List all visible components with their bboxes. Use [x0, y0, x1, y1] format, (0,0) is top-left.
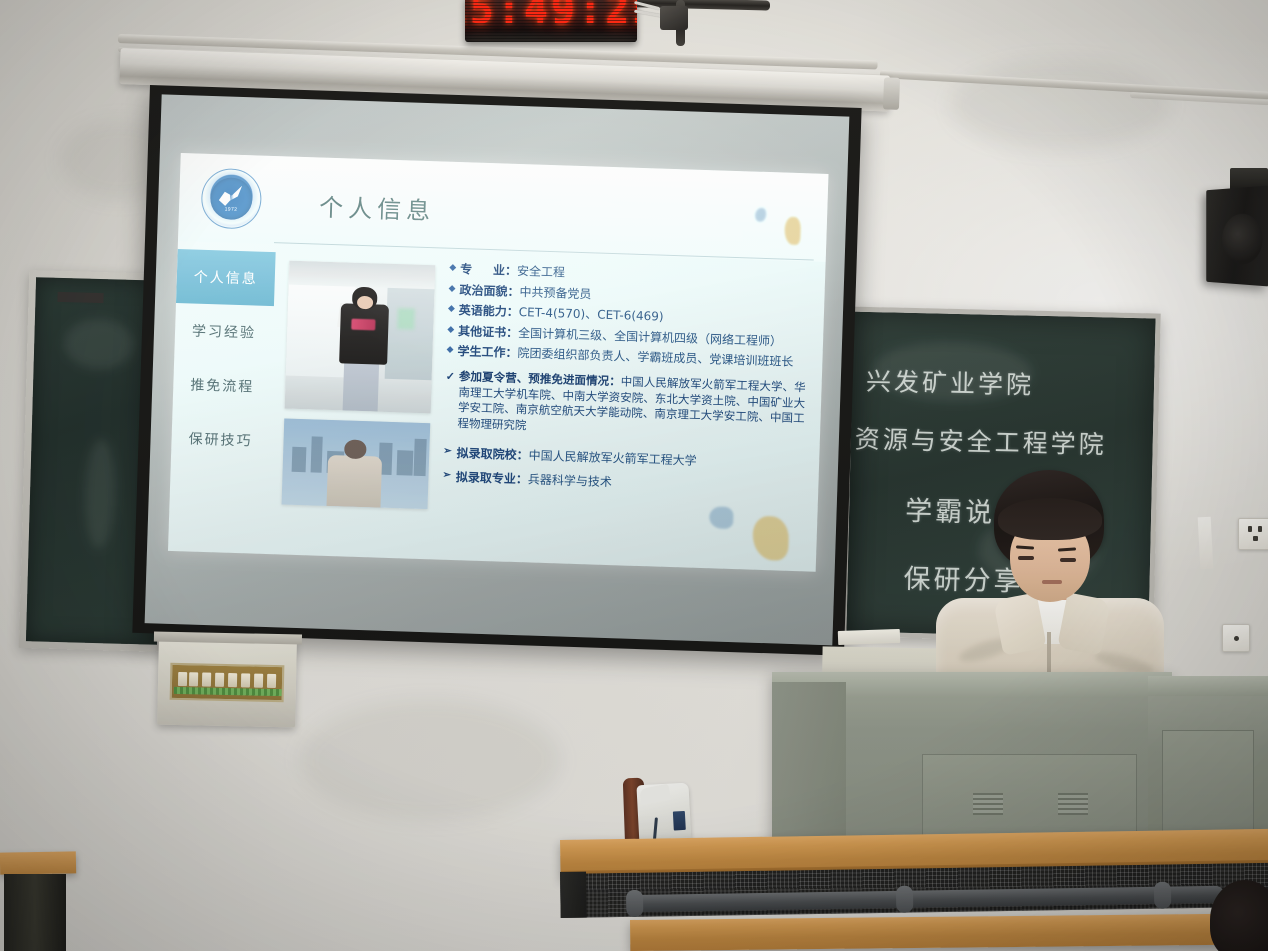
- podium-vent: [973, 793, 1003, 815]
- slide-photo-subway: [285, 261, 436, 414]
- papers-on-console: [838, 629, 900, 645]
- slide-nav-item-personal-info[interactable]: 个人信息: [176, 249, 276, 306]
- diamond-bullet-icon: ◆: [448, 301, 455, 317]
- bullet-label: 其他证书: [458, 322, 507, 341]
- wall-stain: [950, 60, 1170, 150]
- slide-header: [178, 153, 829, 262]
- slide-content-body: ◆ 专 业 ： 安全工程 ◆ 政治面貌 ： 中共预备党员 ◆ 英语能力: [442, 260, 809, 497]
- projector-screen: 1972 个人信息 个人信息 学习经验 推免流程 保研: [132, 85, 861, 656]
- slide-nav-label: 个人信息: [194, 267, 259, 289]
- wall-stain: [300, 700, 560, 820]
- decor-gold-splotch: [784, 217, 801, 246]
- bullet-separator: ：: [506, 323, 519, 340]
- check-bullet-icon: ✓: [445, 370, 455, 385]
- wall-speaker: [1206, 186, 1268, 287]
- panel-window: [170, 663, 285, 702]
- wall-tape-mark: [1198, 517, 1214, 570]
- logo-year: 1972: [225, 206, 238, 212]
- bullet-label: 学生工作: [457, 342, 506, 361]
- presenter-fringe: [998, 498, 1102, 540]
- arrow-label: 拟录取专业: [456, 468, 517, 487]
- slide-nav-label: 保研技巧: [188, 428, 253, 450]
- classroom-photo-scene: 15:49:25 兴发矿业学院 资源与安全工程学院 学霸说大学 保研分享: [0, 0, 1268, 951]
- arrow-bullet-icon: ➢: [443, 444, 452, 460]
- paragraph-text-wrap: 参加夏令营、预推免进面情况：中国人民解放军火箭军工程大学、华南理工大学机车院、中…: [457, 370, 806, 443]
- slide-nav-item-grad-tips[interactable]: 保研技巧: [171, 411, 271, 468]
- screen-canvas: 1972 个人信息 个人信息 学习经验 推免流程 保研: [145, 94, 850, 645]
- side-cabinet-top: [1148, 676, 1268, 696]
- diamond-bullet-icon: ◆: [447, 321, 454, 337]
- left-side-desk-support: [4, 874, 66, 951]
- diamond-bullet-icon: ◆: [449, 260, 456, 276]
- bullet-label: 专 业: [460, 260, 505, 278]
- blackboard-line-1: 兴发矿业学院: [866, 362, 1035, 402]
- panel-terminal-strip: [174, 687, 282, 696]
- bullet-label: 政治面貌: [459, 281, 508, 300]
- slide-arrow-item: ➢ 拟录取院校 ： 中国人民解放军火箭军工程大学: [443, 444, 803, 473]
- diamond-bullet-icon: ◆: [448, 280, 455, 296]
- electrical-panel-box: [157, 639, 297, 728]
- slide-nav-item-recommendation-process[interactable]: 推免流程: [172, 357, 272, 414]
- slide-nav-item-study-experience[interactable]: 学习经验: [174, 303, 274, 360]
- wall-socket[interactable]: [1238, 518, 1268, 550]
- arrow-separator: ：: [516, 446, 529, 463]
- slide-paragraph-block: ✓ 参加夏令营、预推免进面情况：中国人民解放军火箭军工程大学、华南理工大学机车院…: [444, 370, 806, 444]
- left-side-desk: [0, 851, 76, 874]
- roller-end-cap: [883, 77, 900, 110]
- bag-label-patch: [673, 811, 686, 831]
- paragraph-label: 参加夏令营、预推免进面情况: [459, 371, 610, 388]
- diamond-bullet-icon: ◆: [446, 342, 453, 358]
- bullet-separator: ：: [507, 282, 520, 299]
- presentation-slide: 1972 个人信息 个人信息 学习经验 推免流程 保研: [168, 153, 829, 572]
- speaker-cone: [1222, 213, 1262, 265]
- arrow-value: 兵器科学与技术: [528, 470, 613, 490]
- slide-arrow-item: ➢ 拟录取专业 ： 兵器科学与技术: [442, 468, 802, 497]
- paragraph-separator: ：: [609, 376, 621, 388]
- bag-flap: [639, 784, 672, 805]
- clock-junction-box: [660, 6, 688, 30]
- presenter-mouth: [1042, 580, 1062, 584]
- slide-title: 个人信息: [319, 188, 436, 227]
- logo-inner-disc: 1972: [210, 177, 253, 220]
- arrow-label: 拟录取院校: [456, 444, 517, 463]
- blackboard-line-2: 资源与安全工程学院: [854, 420, 1107, 462]
- bullet-separator: ：: [505, 344, 518, 361]
- podium-vent: [1058, 793, 1088, 815]
- desk-side-panel: [560, 872, 587, 918]
- decor-gold-splotch: [752, 516, 789, 561]
- slide-nav-label: 推免流程: [190, 374, 255, 396]
- bullet-separator: ：: [507, 303, 520, 320]
- arrow-bullet-icon: ➢: [442, 468, 451, 484]
- slide-photo-skyline: [282, 419, 431, 510]
- arrow-value: 中国人民解放军火箭军工程大学: [528, 446, 696, 468]
- wall-data-port[interactable]: [1222, 624, 1250, 652]
- arrow-separator: ：: [516, 470, 529, 487]
- panel-top-lip: [154, 631, 302, 644]
- bullet-label: 英语能力: [459, 301, 508, 320]
- logo-emblem-icon: [217, 186, 246, 208]
- slide-nav-label: 学习经验: [192, 320, 257, 342]
- slide-section-nav: 个人信息 学习经验 推免流程 保研技巧: [168, 249, 276, 554]
- decor-blue-splotch: [709, 506, 734, 529]
- led-wall-clock: 15:49:25: [465, 0, 637, 42]
- bullet-separator: ：: [505, 262, 518, 279]
- clock-time-display: 15:49:25: [465, 0, 637, 34]
